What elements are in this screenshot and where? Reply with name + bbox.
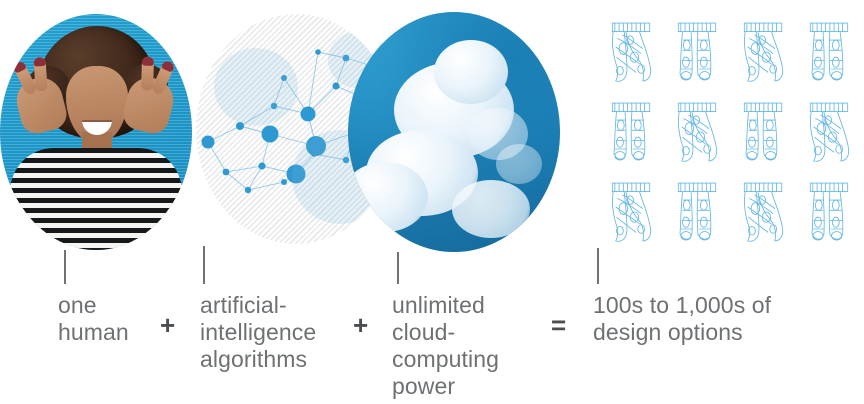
generative-design-lattice-variant[interactable] — [798, 18, 860, 86]
caption-human: one human — [58, 292, 168, 346]
generative-design-lattice-variant[interactable] — [600, 178, 662, 246]
operator-plus-2: + — [353, 312, 368, 338]
cloud-puff — [434, 40, 508, 104]
generative-design-lattice-variant[interactable] — [600, 18, 662, 86]
generative-design-lattice-variant[interactable] — [732, 18, 794, 86]
generative-design-lattice-variant[interactable] — [666, 98, 728, 166]
cloud-puff — [496, 144, 542, 184]
connector-stem-human — [64, 250, 66, 284]
caption-cloud: unlimited cloud- computing power — [392, 292, 537, 400]
generative-design-lattice-variant[interactable] — [666, 18, 728, 86]
caption-ai: artificial- intelligence algorithms — [200, 292, 345, 373]
connector-stem-result — [597, 248, 599, 284]
term-icon-human — [0, 14, 192, 250]
generative-design-infographic: one human + artificial- intelligence alg… — [0, 0, 864, 404]
operator-plus-1: + — [160, 312, 175, 338]
generative-design-lattice-variant[interactable] — [600, 98, 662, 166]
result-lattice-grid — [600, 18, 864, 246]
term-icon-cloud — [348, 12, 560, 252]
connector-stem-cloud — [397, 252, 399, 284]
caption-result: 100s to 1,000s of design options — [593, 292, 843, 346]
cloud-puff — [452, 180, 530, 238]
generative-design-lattice-variant[interactable] — [666, 178, 728, 246]
generative-design-lattice-variant[interactable] — [732, 98, 794, 166]
cloud-puff — [348, 162, 428, 232]
operator-equals: = — [551, 312, 566, 338]
soft-blob — [214, 48, 298, 126]
generative-design-lattice-variant[interactable] — [798, 98, 860, 166]
generative-design-lattice-variant[interactable] — [798, 178, 860, 246]
generative-design-lattice-variant[interactable] — [732, 178, 794, 246]
striped-shirt-shape — [10, 148, 182, 250]
connector-stem-ai — [203, 246, 205, 284]
